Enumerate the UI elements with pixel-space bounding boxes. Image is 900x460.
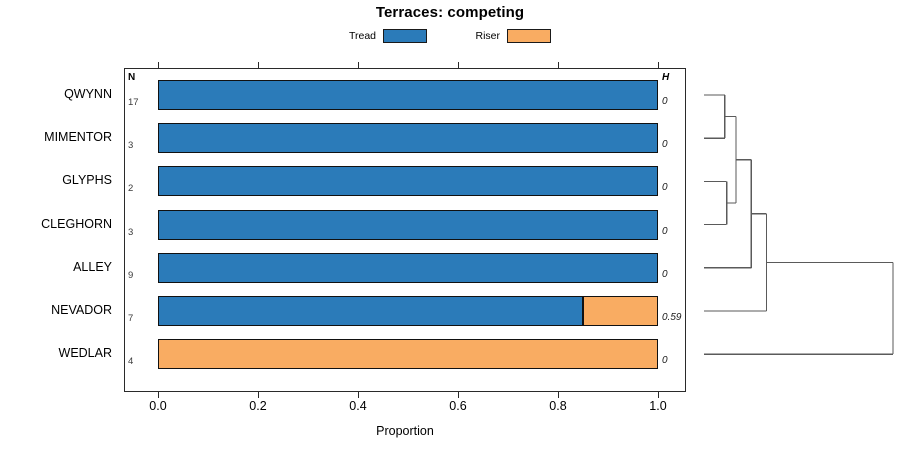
n-value: 4: [128, 356, 154, 367]
dendrogram: [690, 60, 900, 400]
x-axis-label: Proportion: [124, 424, 686, 438]
x-tick-label: 0.0: [149, 399, 166, 413]
x-tick: [458, 392, 459, 398]
x-tick: [658, 392, 659, 398]
stacked-bar[interactable]: [158, 296, 658, 326]
stacked-bar[interactable]: [158, 80, 658, 110]
category-label-glyphs: GLYPHS: [0, 173, 112, 187]
n-value: 7: [128, 313, 154, 324]
n-value: 3: [128, 227, 154, 238]
x-tick-label: 0.4: [349, 399, 366, 413]
bar-segment-riser[interactable]: [158, 339, 658, 369]
bar-segment-tread[interactable]: [158, 253, 658, 283]
x-tick: [558, 392, 559, 398]
bar-segment-riser[interactable]: [583, 296, 658, 326]
stacked-bar[interactable]: [158, 339, 658, 369]
x-axis-bottom-ticks: [124, 392, 686, 398]
x-tick: [158, 62, 159, 68]
n-value: 2: [128, 183, 154, 194]
bar-segment-tread[interactable]: [158, 123, 658, 153]
x-axis-tick-labels: 0.00.20.40.60.81.0: [124, 399, 686, 415]
x-tick: [258, 62, 259, 68]
x-tick: [358, 392, 359, 398]
stacked-bar[interactable]: [158, 210, 658, 240]
x-tick-label: 0.8: [549, 399, 566, 413]
bar-segment-tread[interactable]: [158, 80, 658, 110]
category-label-wedlar: WEDLAR: [0, 346, 112, 360]
x-tick: [258, 392, 259, 398]
bar-segment-tread[interactable]: [158, 210, 658, 240]
category-label-alley: ALLEY: [0, 260, 112, 274]
x-tick-label: 0.2: [249, 399, 266, 413]
chart-root: Terraces: competing Tread Riser N H QWYN…: [0, 0, 900, 460]
dendrogram-svg: [690, 60, 900, 400]
stacked-bar[interactable]: [158, 166, 658, 196]
bar-segment-tread[interactable]: [158, 296, 583, 326]
x-tick: [458, 62, 459, 68]
x-tick-label: 0.6: [449, 399, 466, 413]
category-label-cleghorn: CLEGHORN: [0, 217, 112, 231]
category-label-qwynn: QWYNN: [0, 87, 112, 101]
x-tick: [658, 62, 659, 68]
x-tick-label: 1.0: [649, 399, 666, 413]
stacked-bar[interactable]: [158, 253, 658, 283]
category-label-mimentor: MIMENTOR: [0, 130, 112, 144]
stacked-bar[interactable]: [158, 123, 658, 153]
x-tick: [158, 392, 159, 398]
n-value: 17: [128, 97, 154, 108]
n-value: 9: [128, 270, 154, 281]
x-axis-top-ticks: [124, 62, 686, 68]
x-tick: [358, 62, 359, 68]
x-tick: [558, 62, 559, 68]
category-label-nevador: NEVADOR: [0, 303, 112, 317]
n-value: 3: [128, 140, 154, 151]
bar-segment-tread[interactable]: [158, 166, 658, 196]
